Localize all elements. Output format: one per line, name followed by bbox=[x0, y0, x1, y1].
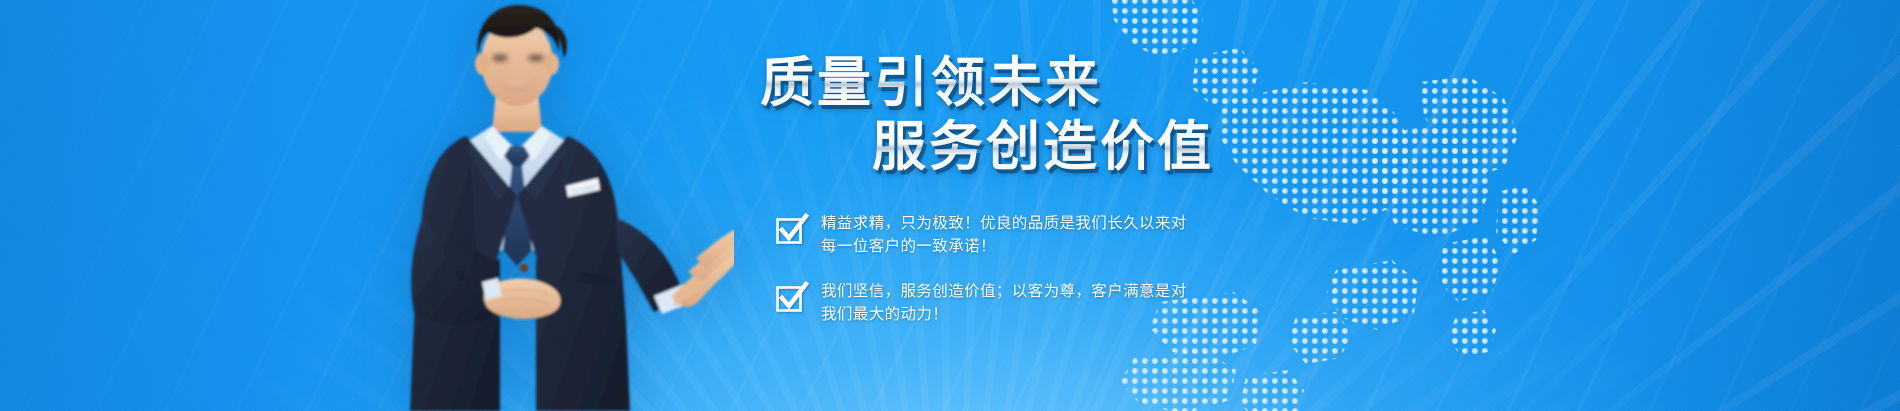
feature-bullet-list: 精益求精，只为极致！优良的品质是我们长久以来对 每一位客户的一致承诺！ 我们坚信… bbox=[775, 212, 1215, 348]
bullet-text-line-1: 精益求精，只为极致！优良的品质是我们长久以来对 bbox=[821, 214, 1187, 232]
promotional-banner: 质量引领未来 服务创造价值 精益求精，只为极致！优良的品质是我们长久以来对 每一… bbox=[0, 0, 1900, 411]
headline-line-1: 质量引领未来 bbox=[760, 52, 1230, 114]
bullet-text: 我们坚信，服务创造价值；以客为尊，客户满意是对 我们最大的动力！ bbox=[821, 280, 1187, 326]
bullet-text: 精益求精，只为极致！优良的品质是我们长久以来对 每一位客户的一致承诺！ bbox=[821, 212, 1187, 258]
bullet-item: 我们坚信，服务创造价值；以客为尊，客户满意是对 我们最大的动力！ bbox=[775, 280, 1215, 326]
checkbox-checked-icon bbox=[775, 213, 809, 247]
bullet-text-line-2: 我们最大的动力！ bbox=[821, 305, 948, 323]
checkbox-checked-icon bbox=[775, 281, 809, 315]
headline-block: 质量引领未来 服务创造价值 bbox=[760, 52, 1230, 178]
headline-line-2: 服务创造价值 bbox=[872, 116, 1230, 178]
bullet-text-line-2: 每一位客户的一致承诺！ bbox=[821, 237, 996, 255]
bullet-item: 精益求精，只为极致！优良的品质是我们长久以来对 每一位客户的一致承诺！ bbox=[775, 212, 1215, 258]
bullet-text-line-1: 我们坚信，服务创造价值；以客为尊，客户满意是对 bbox=[821, 282, 1187, 300]
